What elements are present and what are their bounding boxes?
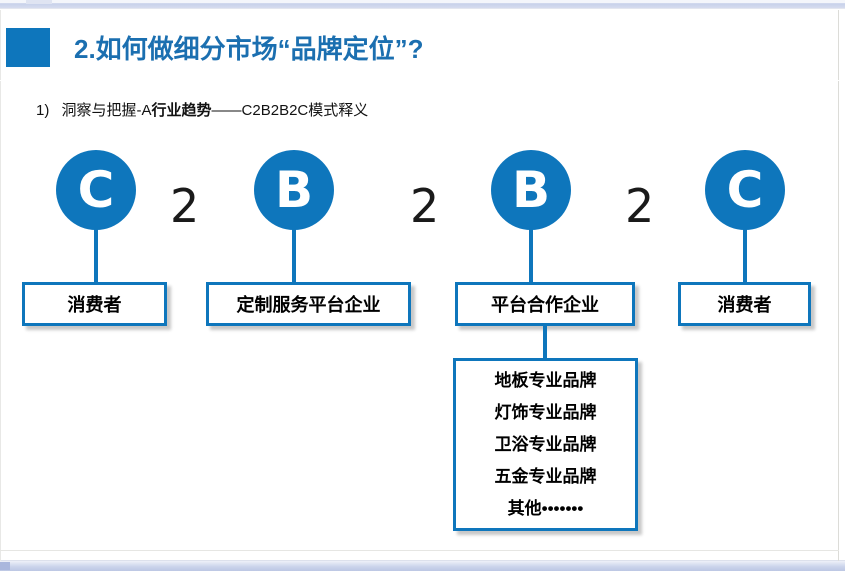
list-item: 灯饰专业品牌 [495, 397, 597, 429]
connector-box-3-to-list [543, 326, 547, 360]
list-item: 其他••••••• [508, 493, 584, 525]
separator-digit-3: 2 [625, 183, 654, 229]
flow-box-2[interactable]: 定制服务平台企业 [206, 282, 411, 326]
list-item: 卫浴专业品牌 [495, 429, 597, 461]
window-chrome-bottom-scrollbar[interactable] [0, 560, 845, 571]
header-divider [0, 80, 839, 81]
connector-circle-3-to-box-3 [529, 228, 533, 284]
subtitle-text-tail: ——C2B2B2C模式释义 [212, 102, 369, 119]
flow-circle-4[interactable]: C [705, 150, 785, 230]
flow-box-3[interactable]: 平台合作企业 [455, 282, 635, 326]
scrollbar-thumb[interactable] [0, 562, 10, 570]
list-item: 五金专业品牌 [495, 461, 597, 493]
flow-box-1[interactable]: 消费者 [22, 282, 167, 326]
flow-circle-1[interactable]: C [56, 150, 136, 230]
connector-circle-4-to-box-4 [743, 228, 747, 284]
window-chrome-top [0, 0, 845, 9]
subtitle-text-bold: 行业趋势 [152, 102, 212, 119]
connector-circle-2-to-box-2 [292, 228, 296, 284]
subtitle-index: 1) [36, 102, 49, 119]
flow-circle-3[interactable]: B [491, 150, 571, 230]
flow-box-4[interactable]: 消费者 [678, 282, 811, 326]
canvas-edge-bottom [0, 550, 839, 551]
list-item: 地板专业品牌 [495, 365, 597, 397]
connector-circle-1-to-box-1 [94, 228, 98, 284]
chrome-tab-stub [26, 0, 52, 4]
subtitle-text-plain: 洞察与把握-A [62, 102, 152, 119]
canvas-edge-left [0, 10, 1, 561]
separator-digit-2: 2 [410, 183, 439, 229]
slide-canvas: 2.如何做细分市场“品牌定位”? 1) 洞察与把握-A行业趋势——C2B2B2C… [0, 0, 845, 571]
page-title: 2.如何做细分市场“品牌定位”? [74, 29, 424, 66]
subtitle-line: 1) 洞察与把握-A行业趋势——C2B2B2C模式释义 [36, 99, 368, 120]
flow-circle-2[interactable]: B [254, 150, 334, 230]
brand-list-box[interactable]: 地板专业品牌 灯饰专业品牌 卫浴专业品牌 五金专业品牌 其他••••••• [453, 358, 638, 531]
separator-digit-1: 2 [170, 183, 199, 229]
blue-square-marker [6, 28, 50, 67]
canvas-edge-right [838, 10, 839, 561]
